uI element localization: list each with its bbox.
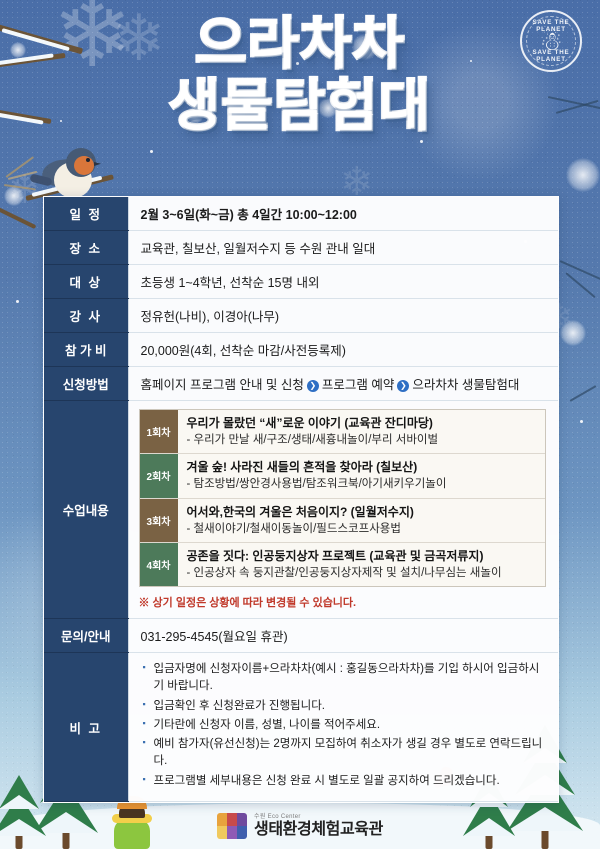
curriculum-box: 1회차 우리가 몰랐던 “새”로운 이야기 (교육관 잔디마당) - 우리가 만…	[139, 409, 547, 587]
row-value-audience: 초등생 1~4학년, 선착순 15명 내외	[128, 265, 558, 299]
row-label-fee: 참 가 비	[44, 333, 128, 367]
snow-bokeh	[560, 320, 586, 346]
session-body-2: 겨울 숲! 사라진 새들의 흔적을 찾아라 (칠보산) - 탐조방법/쌍안경사용…	[178, 454, 546, 497]
row-label-location: 장 소	[44, 231, 128, 265]
snow-dot	[580, 420, 583, 423]
snow-bokeh	[186, 106, 204, 124]
program-info-table: 일 정 2월 3~6일(화~금) 총 4일간 10:00~12:00 장 소 교…	[44, 197, 558, 802]
row-label-remarks: 비 고	[44, 653, 128, 802]
session-detail-3: - 철새이야기/철새이동놀이/필드스코프사용법	[187, 521, 537, 537]
chevron-right-circle-icon: ❯	[307, 380, 319, 392]
table-row-fee: 참 가 비 20,000원(4회, 선착순 마감/사전등록제)	[44, 333, 558, 367]
snow-dot	[150, 150, 153, 153]
row-label-curriculum: 수업내용	[44, 401, 128, 619]
table-row-location: 장 소 교육관, 칠보산, 일월저수지 등 수원 관내 일대	[44, 231, 558, 265]
table-row-apply: 신청방법 홈페이지 프로그램 안내 및 신청❯프로그램 예약❯으라차차 생물탐험…	[44, 367, 558, 401]
robin-bird-illustration	[36, 146, 100, 200]
table-row-curriculum: 수업내용 1회차 우리가 몰랐던 “새”로운 이야기 (교육관 잔디마당) - …	[44, 401, 558, 619]
session-number-3: 3회차	[140, 499, 178, 542]
emblem-top-text: SAVE THE PLANET	[522, 19, 580, 33]
program-info-card: 일 정 2월 3~6일(화~금) 총 4일간 10:00~12:00 장 소 교…	[43, 196, 559, 803]
chevron-right-circle-icon: ❯	[397, 380, 409, 392]
eco-center-logo-icon	[217, 813, 247, 839]
list-item: 기타란에 신청자 이름, 성별, 나이를 적어주세요.	[143, 717, 547, 734]
table-row-schedule: 일 정 2월 3~6일(화~금) 총 4일간 10:00~12:00	[44, 197, 558, 231]
apply-step-3[interactable]: 으라차차 생물탐험대	[412, 378, 519, 392]
session-body-3: 어서와,한국의 겨울은 처음이지? (일월저수지) - 철새이야기/철새이동놀이…	[178, 499, 546, 542]
session-number-2: 2회차	[140, 454, 178, 497]
list-item: 예비 참가자(유선신청)는 2명까지 모집하여 취소자가 생길 경우 별도로 연…	[143, 736, 547, 771]
footer-logo: 수원 Eco Center 생태환경체험교육관	[0, 813, 600, 839]
table-row-contact: 문의/안내 031-295-4545(월요일 휴관)	[44, 619, 558, 653]
row-value-location: 교육관, 칠보산, 일월저수지 등 수원 관내 일대	[128, 231, 558, 265]
session-detail-2: - 탐조방법/쌍안경사용법/탐조워크북/아기새키우기놀이	[187, 476, 537, 492]
row-label-audience: 대 상	[44, 265, 128, 299]
logo-korean-name: 생태환경체험교육관	[254, 822, 383, 838]
list-item: 입금확인 후 신청완료가 진행됩니다.	[143, 698, 547, 715]
row-value-apply: 홈페이지 프로그램 안내 및 신청❯프로그램 예약❯으라차차 생물탐험대	[128, 367, 558, 401]
session-row-3: 3회차 어서와,한국의 겨울은 처음이지? (일월저수지) - 철새이야기/철새…	[140, 498, 546, 542]
save-the-planet-emblem: SAVE THE PLANET ☃ SAVE THE PLANET	[520, 10, 582, 72]
row-label-apply: 신청방법	[44, 367, 128, 401]
snow-bokeh	[318, 98, 338, 118]
remarks-cell: 입금자명에 신청자이름+으라차차(예시 : 홍길동으라차차)를 기입 하시어 입…	[128, 653, 558, 802]
row-label-instructor: 강 사	[44, 299, 128, 333]
list-item: 프로그램별 세부내용은 신청 완료 시 별도로 일괄 공지하여 드리겠습니다.	[143, 773, 547, 790]
session-number-4: 4회차	[140, 543, 178, 586]
snow-bokeh	[4, 186, 24, 206]
apply-step-2[interactable]: 프로그램 예약	[322, 378, 394, 392]
snow-dot	[420, 140, 423, 143]
snow-dot	[296, 62, 299, 65]
snow-dot	[16, 300, 19, 303]
session-row-1: 1회차 우리가 몰랐던 “새”로운 이야기 (교육관 잔디마당) - 우리가 만…	[140, 410, 546, 453]
row-label-contact: 문의/안내	[44, 619, 128, 653]
emblem-bottom-text: SAVE THE PLANET	[522, 49, 580, 63]
apply-step-1[interactable]: 홈페이지 프로그램 안내 및 신청	[141, 378, 304, 392]
row-label-schedule: 일 정	[44, 197, 128, 231]
session-body-1: 우리가 몰랐던 “새”로운 이야기 (교육관 잔디마당) - 우리가 만날 새/…	[178, 410, 546, 453]
curriculum-cell: 1회차 우리가 몰랐던 “새”로운 이야기 (교육관 잔디마당) - 우리가 만…	[128, 401, 558, 619]
row-value-schedule: 2월 3~6일(화~금) 총 4일간 10:00~12:00	[128, 197, 558, 231]
snow-bokeh	[352, 34, 378, 60]
session-detail-4: - 인공상자 속 둥지관찰/인공둥지상자제작 및 설치/나무심는 새놀이	[187, 565, 537, 581]
logo-english-name: 수원 Eco Center	[254, 814, 383, 820]
session-body-4: 공존을 짓다: 인공둥지상자 프로젝트 (교육관 및 금곡저류지) - 인공상자…	[178, 543, 546, 586]
snow-dot	[470, 60, 472, 62]
session-title-3: 어서와,한국의 겨울은 처음이지? (일월저수지)	[187, 504, 537, 520]
list-item: 입금자명에 신청자이름+으라차차(예시 : 홍길동으라차차)를 기입 하시어 입…	[143, 661, 547, 696]
table-row-audience: 대 상 초등생 1~4학년, 선착순 15명 내외	[44, 265, 558, 299]
session-row-2: 2회차 겨울 숲! 사라진 새들의 흔적을 찾아라 (칠보산) - 탐조방법/쌍…	[140, 453, 546, 497]
snow-dot	[60, 120, 62, 122]
eco-center-logo-text: 수원 Eco Center 생태환경체험교육관	[254, 814, 383, 838]
curriculum-note: ※ 상기 일정은 상황에 따라 변경될 수 있습니다.	[139, 594, 547, 610]
snow-bokeh	[10, 42, 26, 58]
session-number-1: 1회차	[140, 410, 178, 453]
session-title-4: 공존을 짓다: 인공둥지상자 프로젝트 (교육관 및 금곡저류지)	[187, 548, 537, 564]
session-title-1: 우리가 몰랐던 “새”로운 이야기 (교육관 잔디마당)	[187, 415, 537, 431]
snowflake-icon: ❄	[112, 6, 166, 70]
session-title-2: 겨울 숲! 사라진 새들의 흔적을 찾아라 (칠보산)	[187, 459, 537, 475]
row-value-contact: 031-295-4545(월요일 휴관)	[128, 619, 558, 653]
remarks-list: 입금자명에 신청자이름+으라차차(예시 : 홍길동으라차차)를 기입 하시어 입…	[143, 661, 547, 790]
session-detail-1: - 우리가 만날 새/구조/생태/새흉내놀이/부리 서바이벌	[187, 432, 537, 448]
row-value-instructor: 정유헌(나비), 이경아(나무)	[128, 299, 558, 333]
row-value-fee: 20,000원(4회, 선착순 마감/사전등록제)	[128, 333, 558, 367]
snow-bokeh	[566, 158, 600, 192]
session-row-4: 4회차 공존을 짓다: 인공둥지상자 프로젝트 (교육관 및 금곡저류지) - …	[140, 542, 546, 586]
table-row-remarks: 비 고 입금자명에 신청자이름+으라차차(예시 : 홍길동으라차차)를 기입 하…	[44, 653, 558, 802]
table-row-instructor: 강 사 정유헌(나비), 이경아(나무)	[44, 299, 558, 333]
